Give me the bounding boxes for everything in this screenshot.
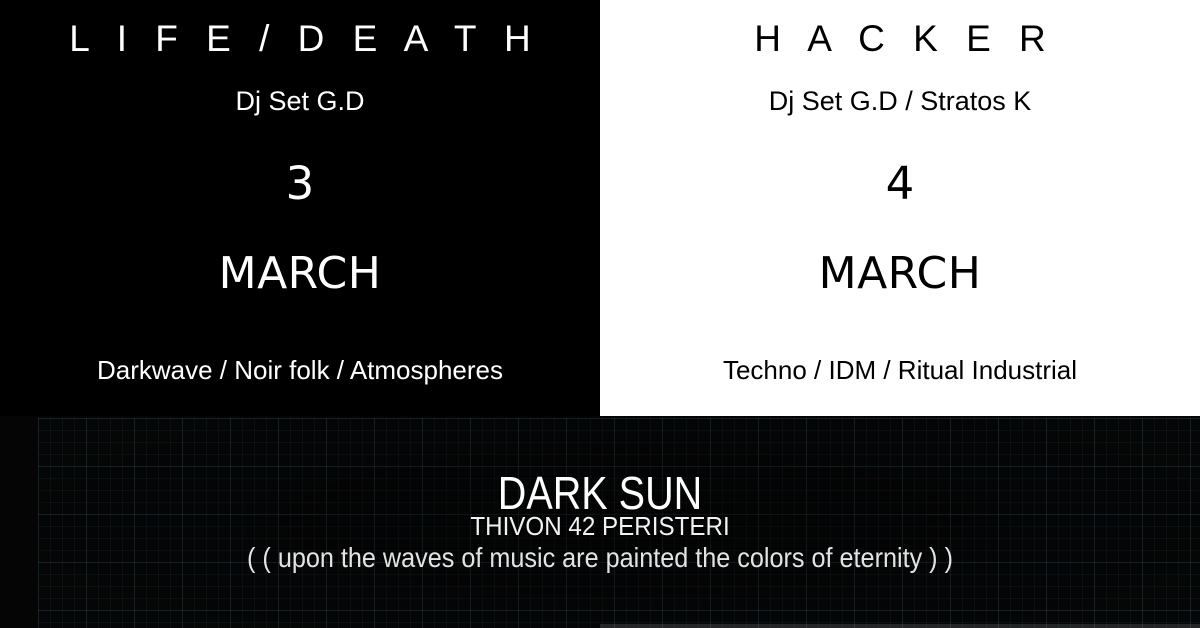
venue-name: DARK SUN bbox=[84, 470, 1116, 516]
event-headline-hacker: H A C K E R bbox=[600, 20, 1200, 57]
event-dj-line-life-death: Dj Set G.D bbox=[0, 88, 600, 115]
event-genres-hacker: Techno / IDM / Ritual Industrial bbox=[600, 357, 1200, 383]
event-month-life-death: MARCH bbox=[0, 252, 600, 296]
event-genres-life-death: Darkwave / Noir folk / Atmospheres bbox=[0, 357, 600, 383]
event-panel-life-death[interactable]: L I F E / D E A T H Dj Set G.D 3 MARCH D… bbox=[0, 0, 600, 416]
venue-band: DARK SUN THIVON 42 PERISTERI ( ( upon th… bbox=[0, 416, 1200, 628]
event-day-hacker: 4 bbox=[600, 161, 1200, 206]
venue-address: THIVON 42 PERISTERI bbox=[42, 513, 1158, 539]
event-dj-line-hacker: Dj Set G.D / Stratos K bbox=[600, 88, 1200, 115]
event-month-hacker: MARCH bbox=[600, 252, 1200, 296]
event-poster: L I F E / D E A T H Dj Set G.D 3 MARCH D… bbox=[0, 0, 1200, 628]
event-day-life-death: 3 bbox=[0, 161, 600, 206]
event-panel-hacker[interactable]: H A C K E R Dj Set G.D / Stratos K 4 MAR… bbox=[600, 0, 1200, 416]
venue-tagline: ( ( upon the waves of music are painted … bbox=[60, 544, 1140, 572]
events-split-container: L I F E / D E A T H Dj Set G.D 3 MARCH D… bbox=[0, 0, 1200, 416]
event-headline-life-death: L I F E / D E A T H bbox=[0, 20, 600, 57]
